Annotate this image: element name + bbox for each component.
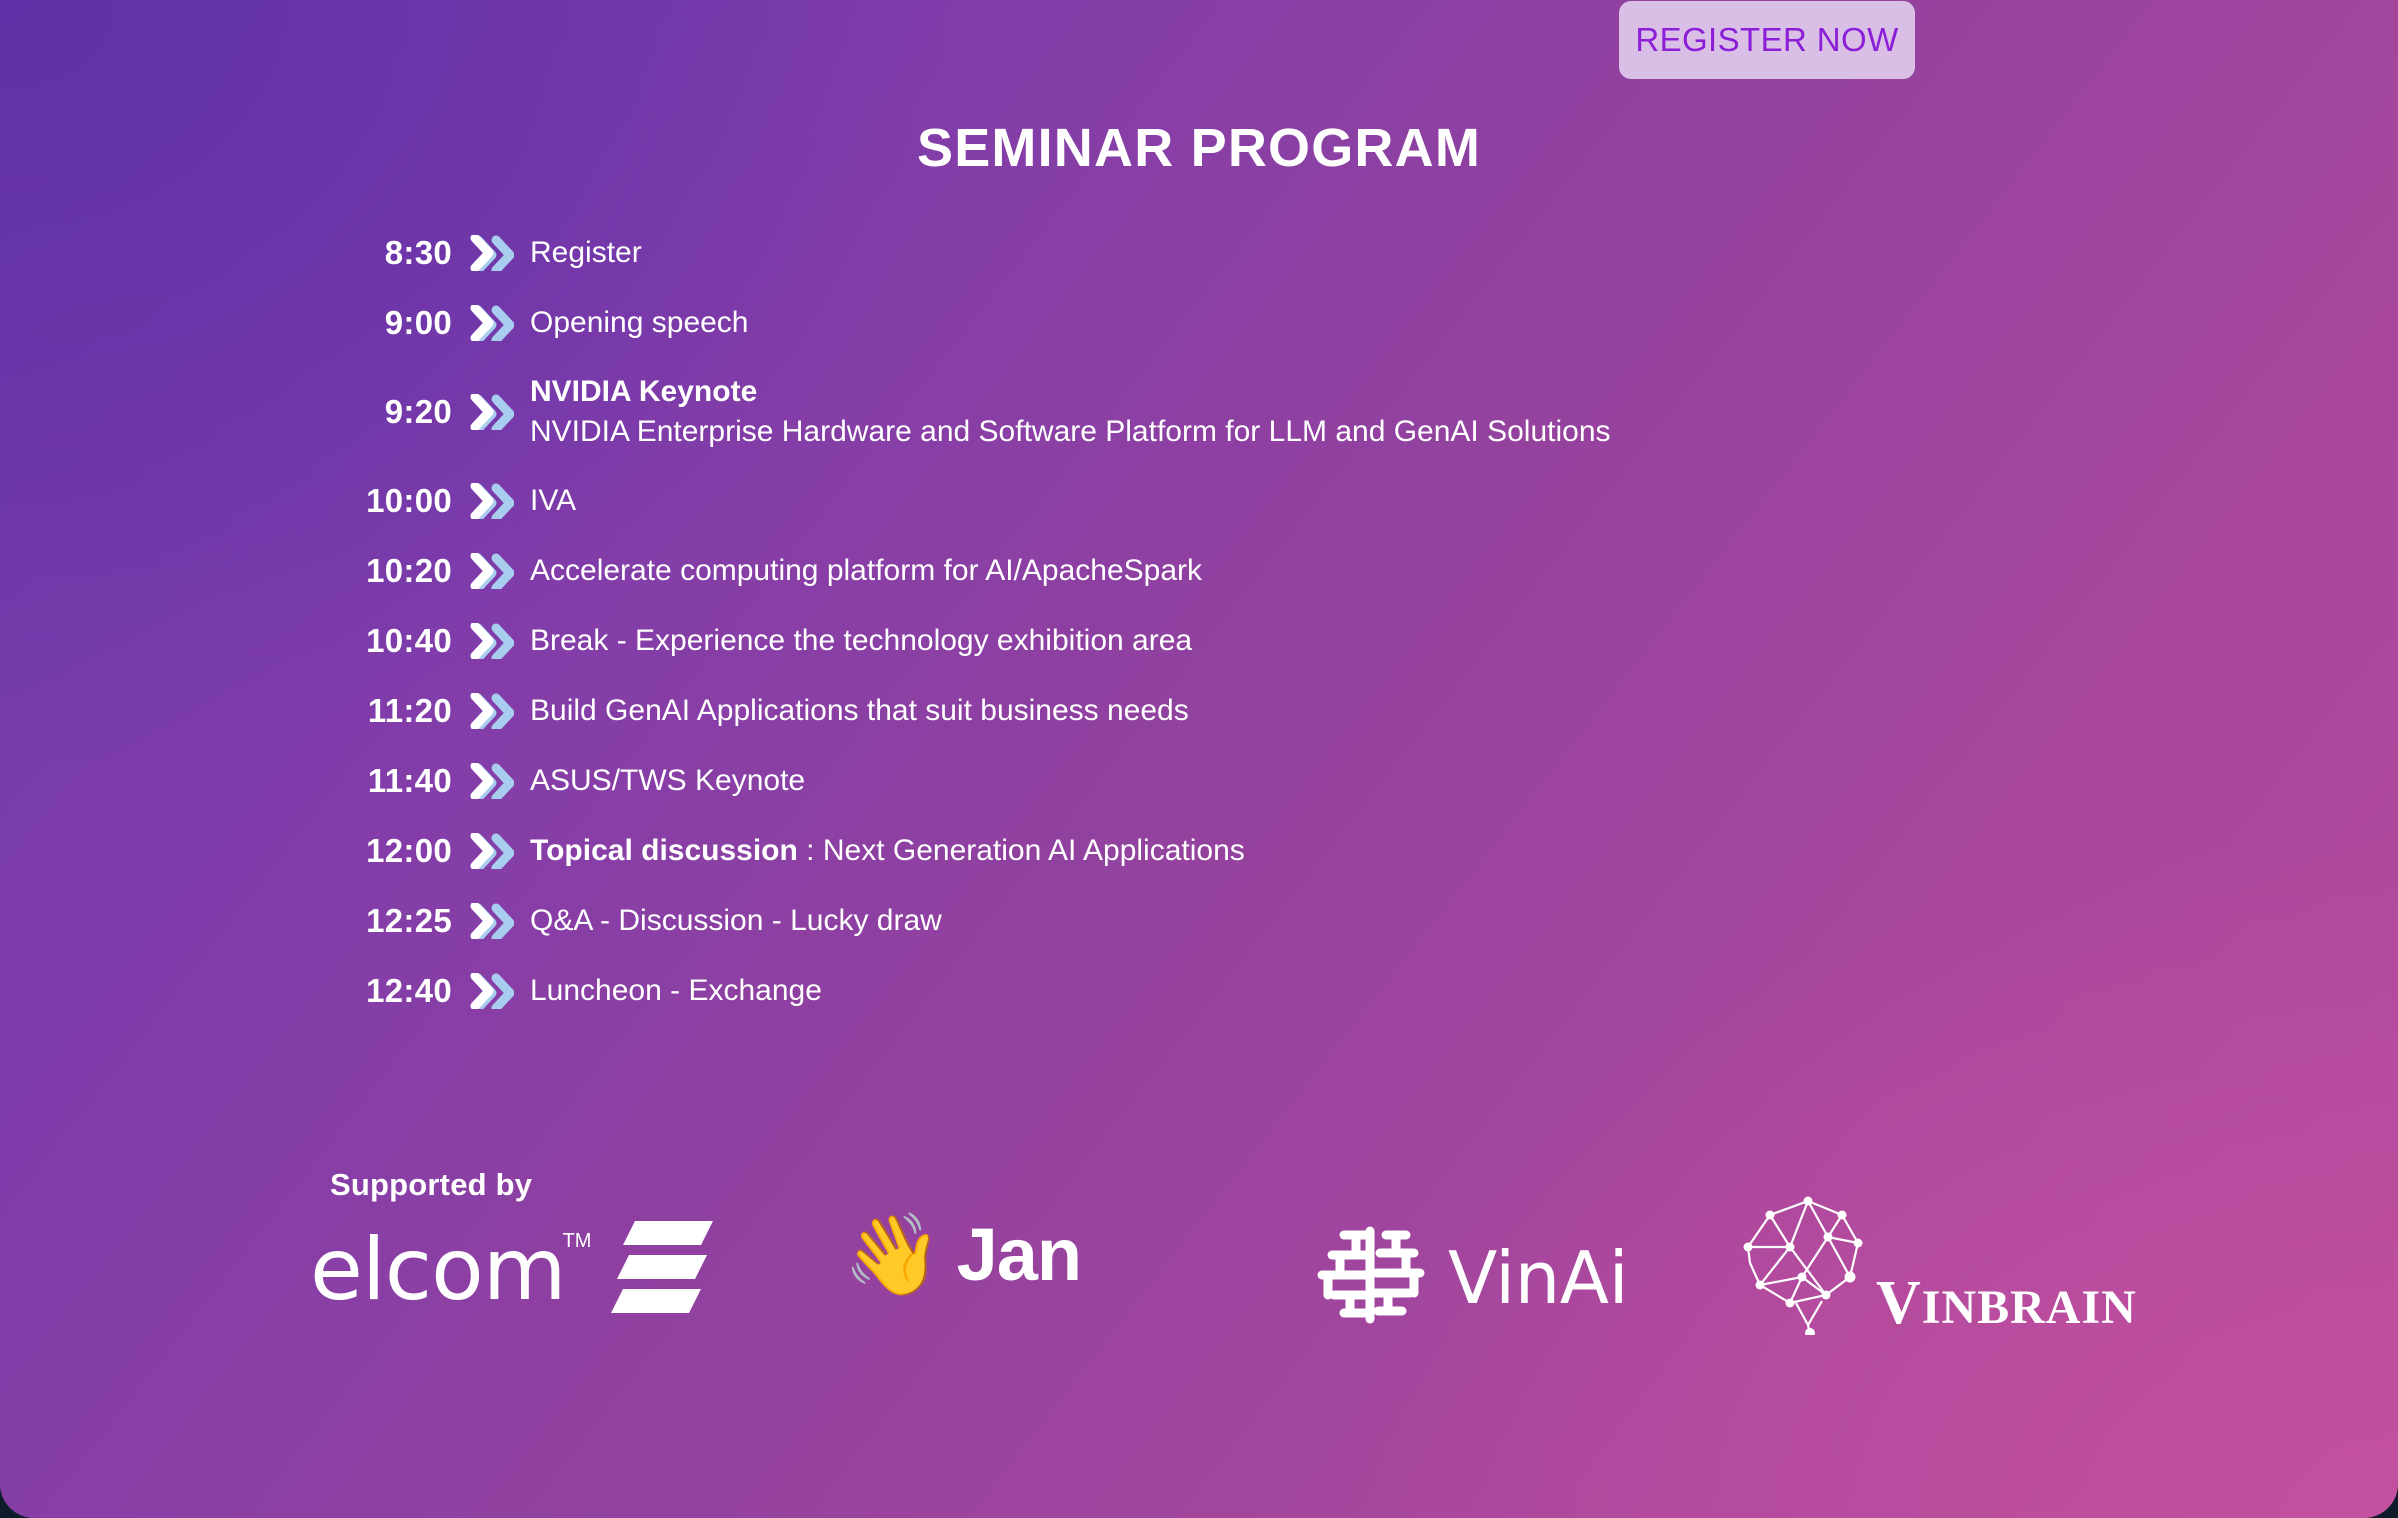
schedule-row: 11:20 Build GenAI Applications that suit…	[332, 676, 2032, 746]
elcom-wordmark: elcomTM	[310, 1227, 565, 1313]
double-chevron-right-icon	[452, 973, 530, 1009]
double-chevron-right-icon	[452, 623, 530, 659]
double-chevron-right-icon	[452, 693, 530, 729]
schedule-text: Accelerate computing platform for AI/Apa…	[530, 551, 2032, 591]
double-chevron-right-icon	[452, 305, 530, 341]
schedule-row: 11:40 ASUS/TWS Keynote	[332, 746, 2032, 816]
schedule-text-rest: : Next Generation AI Applications	[798, 834, 1245, 867]
double-chevron-right-icon	[452, 235, 530, 271]
schedule-text: NVIDIA Keynote NVIDIA Enterprise Hardwar…	[530, 372, 2032, 452]
double-chevron-right-icon	[452, 903, 530, 939]
schedule-row: 10:40 Break - Experience the technology …	[332, 606, 2032, 676]
schedule-time: 11:40	[332, 762, 452, 800]
double-chevron-right-icon	[452, 553, 530, 589]
schedule-text: ASUS/TWS Keynote	[530, 761, 2032, 801]
schedule-session-subtitle: NVIDIA Enterprise Hardware and Software …	[530, 412, 2032, 452]
schedule-time: 12:00	[332, 832, 452, 870]
schedule-row: 9:20 NVIDIA Keynote NVIDIA Enterprise Ha…	[332, 358, 2032, 466]
vinbrain-brain-network-mark-icon	[1730, 1185, 1890, 1340]
schedule-time: 9:20	[332, 393, 452, 431]
schedule-time: 10:40	[332, 622, 452, 660]
schedule-time: 10:00	[332, 482, 452, 520]
schedule-text: IVA	[530, 481, 2032, 521]
sponsor-logo-vinbrain: VINBRAIN	[1730, 1185, 2137, 1340]
page-title: SEMINAR PROGRAM	[0, 117, 2398, 179]
sponsor-logo-jan: 👋 Jan	[843, 1215, 1081, 1295]
schedule-time: 12:40	[332, 972, 452, 1010]
register-now-button[interactable]: REGISTER NOW	[1619, 1, 1915, 79]
waving-hand-icon: 👋	[843, 1215, 943, 1295]
schedule-time: 9:00	[332, 304, 452, 342]
schedule-text: Register	[530, 233, 2032, 273]
schedule-time: 8:30	[332, 234, 452, 272]
seminar-program-poster: REGISTER NOW SEMINAR PROGRAM 8:30 Regist…	[0, 0, 2398, 1518]
schedule-row: 9:00 Opening speech	[332, 288, 2032, 358]
sponsor-logo-vinai: VinAi	[1310, 1221, 1628, 1334]
schedule-text: Opening speech	[530, 303, 2032, 343]
schedule-session-title: NVIDIA Keynote	[530, 372, 2032, 412]
schedule-list: 8:30 Register 9:00 Opening speech	[332, 218, 2032, 1026]
schedule-text: Q&A - Discussion - Lucky draw	[530, 901, 2032, 941]
schedule-time: 10:20	[332, 552, 452, 590]
double-chevron-right-icon	[452, 483, 530, 519]
schedule-text: Break - Experience the technology exhibi…	[530, 621, 2032, 661]
schedule-text: Luncheon - Exchange	[530, 971, 2032, 1011]
schedule-time: 12:25	[332, 902, 452, 940]
vinbrain-wordmark: VINBRAIN	[1876, 1272, 2137, 1334]
schedule-row: 12:25 Q&A - Discussion - Lucky draw	[332, 886, 2032, 956]
schedule-row: 10:00 IVA	[332, 466, 2032, 536]
double-chevron-right-icon	[452, 833, 530, 869]
schedule-row: 10:20 Accelerate computing platform for …	[332, 536, 2032, 606]
sponsor-logo-elcom: elcomTM	[310, 1219, 713, 1320]
trademark-symbol: TM	[563, 1231, 592, 1251]
vinai-wordmark: VinAi	[1448, 1242, 1628, 1314]
schedule-row: 12:40 Luncheon - Exchange	[332, 956, 2032, 1026]
double-chevron-right-icon	[452, 763, 530, 799]
schedule-text: Topical discussion : Next Generation AI …	[530, 831, 2032, 871]
schedule-row: 12:00 Topical discussion : Next Generati…	[332, 816, 2032, 886]
schedule-row: 8:30 Register	[332, 218, 2032, 288]
schedule-text: Build GenAI Applications that suit busin…	[530, 691, 2032, 731]
sponsor-logos: elcomTM 👋 Jan	[310, 1215, 2190, 1345]
schedule-text-bold-prefix: Topical discussion	[530, 834, 798, 867]
schedule-time: 11:20	[332, 692, 452, 730]
elcom-e-mark-icon	[609, 1219, 713, 1320]
vinai-neural-mark-icon	[1310, 1221, 1434, 1334]
supported-by-label: Supported by	[330, 1167, 532, 1203]
jan-wordmark: Jan	[957, 1218, 1082, 1292]
double-chevron-right-icon	[452, 394, 530, 430]
